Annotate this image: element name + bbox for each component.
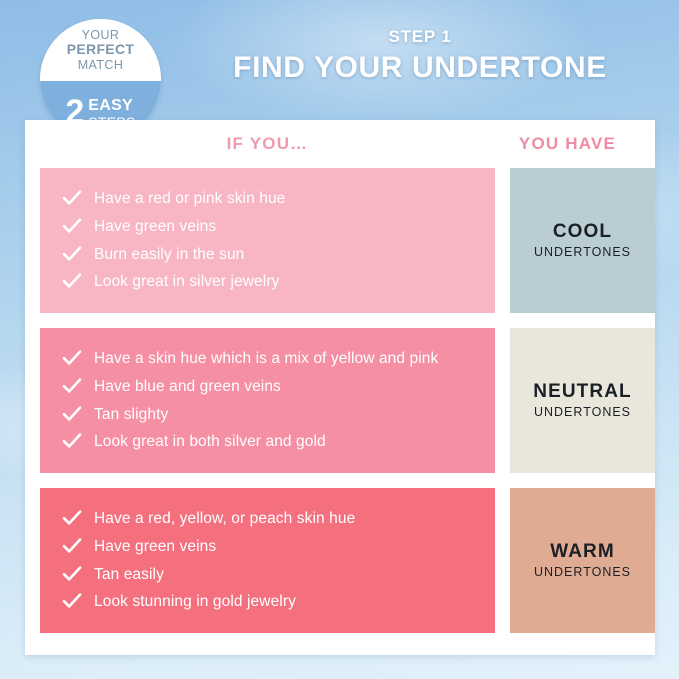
criteria-item: Tan slighty — [62, 405, 481, 425]
column-header-criteria: IF YOU… — [40, 134, 495, 154]
check-icon — [62, 190, 84, 206]
criteria-panel-neutral: Have a skin hue which is a mix of yellow… — [40, 328, 495, 473]
criteria-item: Look stunning in gold jewelry — [62, 592, 481, 612]
criteria-item: Look great in both silver and gold — [62, 432, 481, 452]
criteria-item: Burn easily in the sun — [62, 245, 481, 265]
page-title: FIND YOUR UNDERTONE — [175, 49, 665, 87]
criteria-item: Look great in silver jewelry — [62, 272, 481, 292]
table-row: Have a red, yellow, or peach skin hueHav… — [40, 488, 640, 633]
check-icon — [62, 406, 84, 422]
criteria-item-label: Have a red or pink skin hue — [94, 189, 285, 209]
badge-word-easy: EASY — [88, 98, 135, 115]
undertone-name: NEUTRAL — [533, 381, 631, 403]
result-swatch-neutral: NEUTRAL UNDERTONES — [510, 328, 655, 473]
header-block: STEP 1 FIND YOUR UNDERTONE — [175, 26, 665, 87]
check-icon — [62, 378, 84, 394]
table-row: Have a skin hue which is a mix of yellow… — [40, 328, 640, 473]
criteria-item-label: Have a skin hue which is a mix of yellow… — [94, 349, 438, 369]
table-row: Have a red or pink skin hueHave green ve… — [40, 168, 640, 313]
undertone-sublabel: UNDERTONES — [534, 564, 631, 580]
result-swatch-warm: WARM UNDERTONES — [510, 488, 655, 633]
criteria-item: Have a red, yellow, or peach skin hue — [62, 509, 481, 529]
criteria-item-label: Have blue and green veins — [94, 377, 281, 397]
criteria-item-label: Tan easily — [94, 565, 164, 585]
undertone-sublabel: UNDERTONES — [534, 404, 631, 420]
criteria-panel-cool: Have a red or pink skin hueHave green ve… — [40, 168, 495, 313]
result-swatch-cool: COOL UNDERTONES — [510, 168, 655, 313]
criteria-item: Have a skin hue which is a mix of yellow… — [62, 349, 481, 369]
criteria-panel-warm: Have a red, yellow, or peach skin hueHav… — [40, 488, 495, 633]
check-icon — [62, 350, 84, 366]
check-icon — [62, 433, 84, 449]
step-label: STEP 1 — [175, 26, 665, 47]
criteria-item: Have blue and green veins — [62, 377, 481, 397]
criteria-item-label: Have a red, yellow, or peach skin hue — [94, 509, 355, 529]
badge-line-your: YOUR — [82, 28, 120, 42]
criteria-item-label: Have green veins — [94, 537, 216, 557]
undertone-table-card: IF YOU… YOU HAVE Have a red or pink skin… — [25, 120, 655, 655]
check-icon — [62, 566, 84, 582]
column-header-result: YOU HAVE — [495, 134, 640, 154]
check-icon — [62, 273, 84, 289]
check-icon — [62, 218, 84, 234]
criteria-item: Have green veins — [62, 537, 481, 557]
check-icon — [62, 246, 84, 262]
criteria-item: Have a red or pink skin hue — [62, 189, 481, 209]
criteria-item-label: Look stunning in gold jewelry — [94, 592, 296, 612]
check-icon — [62, 538, 84, 554]
check-icon — [62, 593, 84, 609]
badge-line-perfect: PERFECT — [67, 42, 134, 58]
undertone-name: COOL — [553, 221, 612, 243]
criteria-item: Tan easily — [62, 565, 481, 585]
criteria-item-label: Look great in both silver and gold — [94, 432, 326, 452]
badge-line-match: MATCH — [78, 58, 124, 72]
check-icon — [62, 510, 84, 526]
criteria-item-label: Have green veins — [94, 217, 216, 237]
criteria-item: Have green veins — [62, 217, 481, 237]
infographic-canvas: STEP 1 FIND YOUR UNDERTONE YOUR PERFECT … — [0, 0, 679, 679]
badge-top-half: YOUR PERFECT MATCH — [40, 19, 161, 81]
undertone-sublabel: UNDERTONES — [534, 244, 631, 260]
table-column-headers: IF YOU… YOU HAVE — [25, 134, 655, 164]
criteria-item-label: Burn easily in the sun — [94, 245, 244, 265]
criteria-item-label: Look great in silver jewelry — [94, 272, 279, 292]
criteria-item-label: Tan slighty — [94, 405, 168, 425]
undertone-name: WARM — [550, 541, 615, 563]
